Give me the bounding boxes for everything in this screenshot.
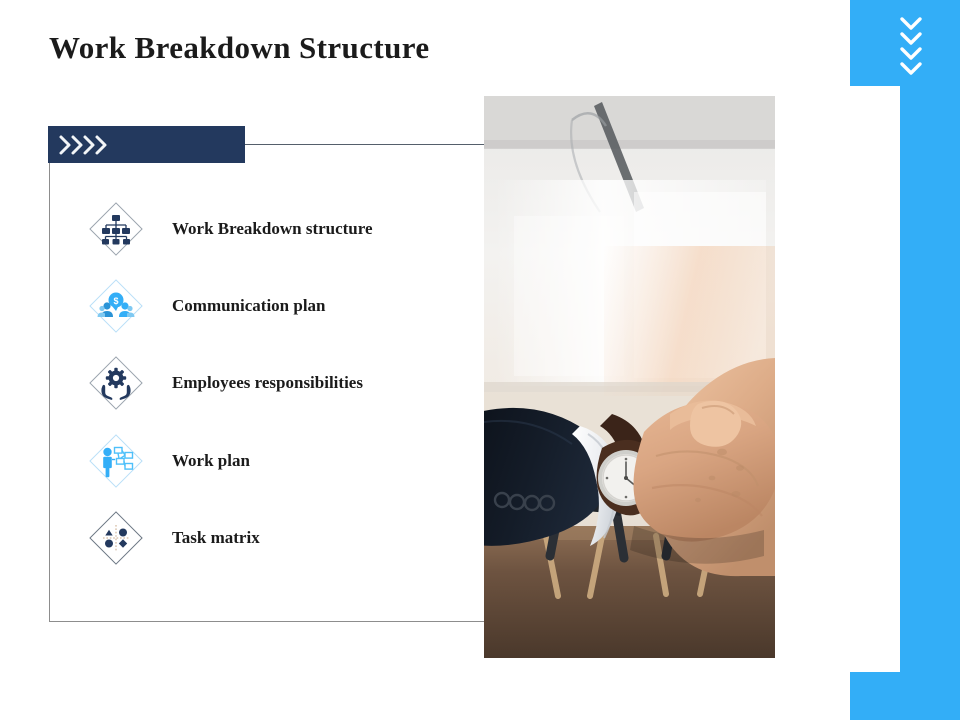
shapes-matrix-diamond-icon	[85, 507, 147, 569]
accent-bar-vertical	[900, 0, 960, 720]
list-item-label: Task matrix	[172, 529, 260, 548]
chevron-right-quad-icon	[58, 134, 128, 156]
list-item-label: Work plan	[172, 452, 250, 471]
panel-connector-line	[245, 144, 493, 145]
svg-text:$: $	[113, 296, 118, 306]
list-item[interactable]: Work plan	[85, 430, 250, 492]
list-item[interactable]: Employees responsibilities	[85, 352, 363, 414]
hands-gear-diamond-icon	[85, 352, 147, 414]
accent-block-bottom	[850, 672, 960, 720]
list-item-label: Employees responsibilities	[172, 374, 363, 393]
list-item[interactable]: Task matrix	[85, 507, 260, 569]
chevron-down-quad-icon	[893, 14, 929, 78]
hierarchy-diamond-icon	[85, 198, 147, 260]
handshake-photo	[484, 96, 775, 658]
people-speech-diamond-icon: $	[85, 275, 147, 337]
person-flowchart-diamond-icon	[85, 430, 147, 492]
list-item[interactable]: $ Communication plan	[85, 275, 326, 337]
section-tab[interactable]	[48, 126, 245, 163]
page-title: Work Breakdown Structure	[49, 30, 429, 66]
list-item[interactable]: Work Breakdown structure	[85, 198, 373, 260]
list-item-label: Communication plan	[172, 297, 326, 316]
list-item-label: Work Breakdown structure	[172, 220, 373, 239]
